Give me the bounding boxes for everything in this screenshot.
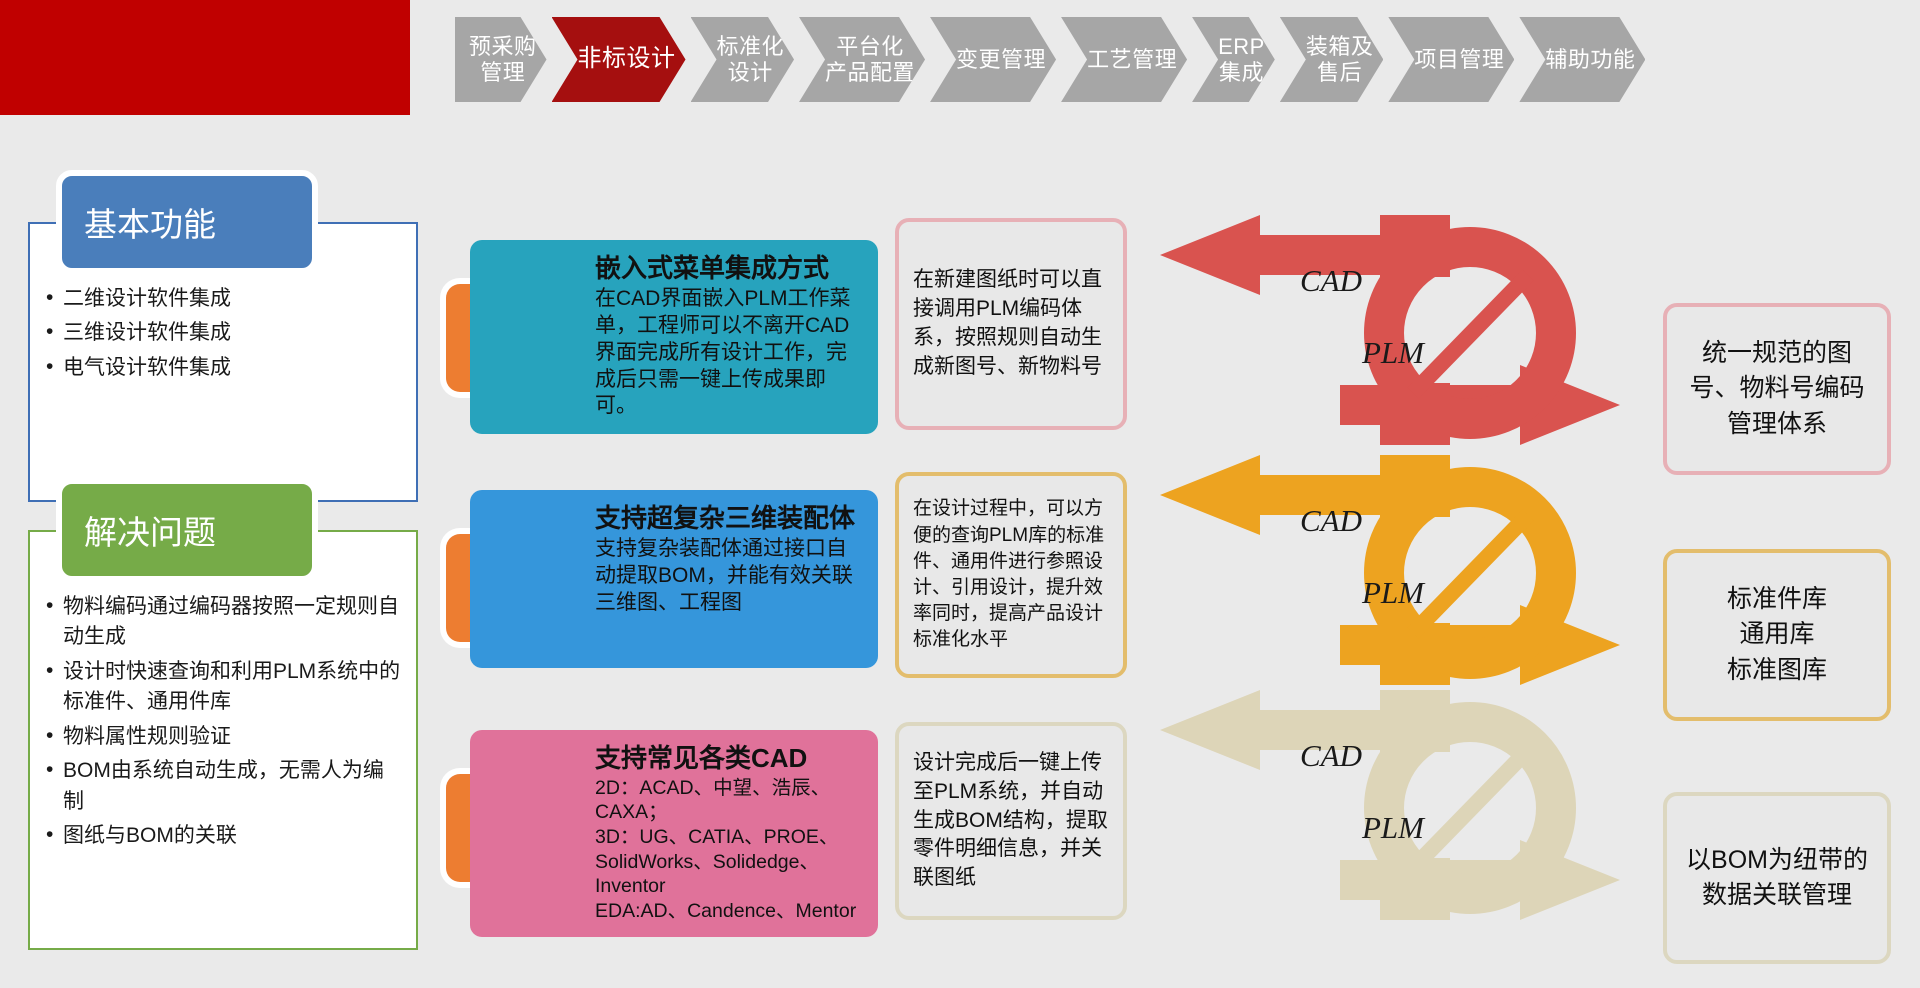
note-text: 设计完成后一键上传至PLM系统，并自动生成BOM结构，提取零件明细信息，并关联图… <box>913 749 1109 894</box>
outcome-box-coding-system: 统一规范的图号、物料号编码管理体系 <box>1663 303 1891 475</box>
panel-basic-functions-body: 二维设计软件集成 三维设计软件集成 电气设计软件集成 <box>46 284 404 387</box>
process-breadcrumb: 预采购 管理 非标设计 标准化 设计 平台化 产品配置 变更管理 工艺管理 ER… <box>455 17 1650 102</box>
breadcrumb-step-label: 预采购 管理 <box>469 34 537 86</box>
note-box-bom-upload: 设计完成后一键上传至PLM系统，并自动生成BOM结构，提取零件明细信息，并关联图… <box>895 722 1127 920</box>
panel-solved-problems: 解决问题 物料编码通过编码器按照一定规则自动生成 设计时快速查询和利用PLM系统… <box>28 530 418 950</box>
feature-title: 支持超复杂三维装配体 <box>595 504 862 534</box>
breadcrumb-step-9[interactable]: 辅助功能 <box>1519 17 1645 102</box>
breadcrumb-step-label: 项目管理 <box>1414 47 1504 73</box>
arrow-label-cad: CAD <box>1300 738 1362 774</box>
list-item: 三维设计软件集成 <box>46 318 404 348</box>
cycle-arrow-cad-plm-2: CAD PLM <box>1130 455 1650 705</box>
outcome-text: 统一规范的图号、物料号编码管理体系 <box>1683 336 1871 443</box>
breadcrumb-step-1[interactable]: 非标设计 <box>552 17 686 102</box>
feature-description: 在CAD界面嵌入PLM工作菜单，工程师可以不离开CAD界面完成所有设计工作，完成… <box>595 286 862 420</box>
list-item: 物料编码通过编码器按照一定规则自动生成 <box>46 592 404 653</box>
cycle-arrow-cad-plm-1: CAD PLM <box>1130 215 1650 465</box>
list-item: 二维设计软件集成 <box>46 284 404 314</box>
breadcrumb-step-label: 非标设计 <box>578 45 676 73</box>
breadcrumb-step-label: 工艺管理 <box>1087 47 1177 73</box>
feature-title: 嵌入式菜单集成方式 <box>595 254 862 284</box>
note-box-standard-parts: 在设计过程中，可以方便的查询PLM库的标准件、通用件进行参照设计、引用设计，提升… <box>895 472 1127 678</box>
list-item: 电气设计软件集成 <box>46 353 404 383</box>
breadcrumb-step-4[interactable]: 变更管理 <box>930 17 1056 102</box>
feature-card-body: 支持常见各类CAD 2D：ACAD、中望、浩辰、CAXA； 3D：UG、CATI… <box>470 730 878 937</box>
breadcrumb-step-label: 标准化 设计 <box>717 34 785 86</box>
note-text: 在新建图纸时可以直接调用PLM编码体系，按照规则自动生成新图号、新物料号 <box>913 266 1109 382</box>
feature-title: 支持常见各类CAD <box>595 744 862 774</box>
breadcrumb-step-label: ERP 集成 <box>1218 34 1265 86</box>
panel-basic-functions: 基本功能 二维设计软件集成 三维设计软件集成 电气设计软件集成 <box>28 222 418 502</box>
feature-card-body: 嵌入式菜单集成方式 在CAD界面嵌入PLM工作菜单，工程师可以不离开CAD界面完… <box>470 240 878 434</box>
list-item: 图纸与BOM的关联 <box>46 821 404 851</box>
feature-card-body: 支持超复杂三维装配体 支持复杂装配体通过接口自动提取BOM，并能有效关联三维图、… <box>470 490 878 668</box>
arrow-label-cad: CAD <box>1300 503 1362 539</box>
arrow-label-plm: PLM <box>1362 810 1424 846</box>
outcome-box-standard-library: 标准件库 通用库 标准图库 <box>1663 549 1891 721</box>
breadcrumb-step-7[interactable]: 装箱及 售后 <box>1280 17 1384 102</box>
breadcrumb-step-0[interactable]: 预采购 管理 <box>455 17 547 102</box>
breadcrumb-step-label: 辅助功能 <box>1545 47 1635 73</box>
outcome-text: 标准件库 通用库 标准图库 <box>1727 582 1827 689</box>
panel-solved-problems-body: 物料编码通过编码器按照一定规则自动生成 设计时快速查询和利用PLM系统中的标准件… <box>46 592 404 856</box>
list-item: BOM由系统自动生成，无需人为编制 <box>46 756 404 817</box>
outcome-text: 以BOM为纽带的数据关联管理 <box>1683 843 1871 914</box>
panel-basic-functions-title: 基本功能 <box>56 170 318 274</box>
feature-description: 2D：ACAD、中望、浩辰、CAXA； 3D：UG、CATIA、PROE、Sol… <box>595 776 862 923</box>
breadcrumb-step-2[interactable]: 标准化 设计 <box>691 17 795 102</box>
panel-solved-problems-title: 解决问题 <box>56 478 318 582</box>
breadcrumb-step-3[interactable]: 平台化 产品配置 <box>799 17 925 102</box>
outcome-box-bom-management: 以BOM为纽带的数据关联管理 <box>1663 792 1891 964</box>
brand-block <box>0 0 410 115</box>
cycle-arrow-cad-plm-3: CAD PLM <box>1130 690 1650 940</box>
note-box-coding: 在新建图纸时可以直接调用PLM编码体系，按照规则自动生成新图号、新物料号 <box>895 218 1127 430</box>
list-item: 设计时快速查询和利用PLM系统中的标准件、通用件库 <box>46 657 404 718</box>
arrow-label-plm: PLM <box>1362 575 1424 611</box>
breadcrumb-step-8[interactable]: 项目管理 <box>1388 17 1514 102</box>
breadcrumb-step-6[interactable]: ERP 集成 <box>1192 17 1275 102</box>
breadcrumb-step-label: 变更管理 <box>956 47 1046 73</box>
panel-title-text: 解决问题 <box>84 506 216 554</box>
note-text: 在设计过程中，可以方便的查询PLM库的标准件、通用件进行参照设计、引用设计，提升… <box>913 496 1109 653</box>
arrow-label-cad: CAD <box>1300 263 1362 299</box>
arrow-label-plm: PLM <box>1362 335 1424 371</box>
breadcrumb-step-label: 装箱及 售后 <box>1306 34 1374 86</box>
breadcrumb-step-5[interactable]: 工艺管理 <box>1061 17 1187 102</box>
list-item: 物料属性规则验证 <box>46 722 404 752</box>
feature-description: 支持复杂装配体通过接口自动提取BOM，并能有效关联三维图、工程图 <box>595 536 862 617</box>
breadcrumb-step-label: 平台化 产品配置 <box>825 34 915 86</box>
panel-title-text: 基本功能 <box>84 198 216 246</box>
